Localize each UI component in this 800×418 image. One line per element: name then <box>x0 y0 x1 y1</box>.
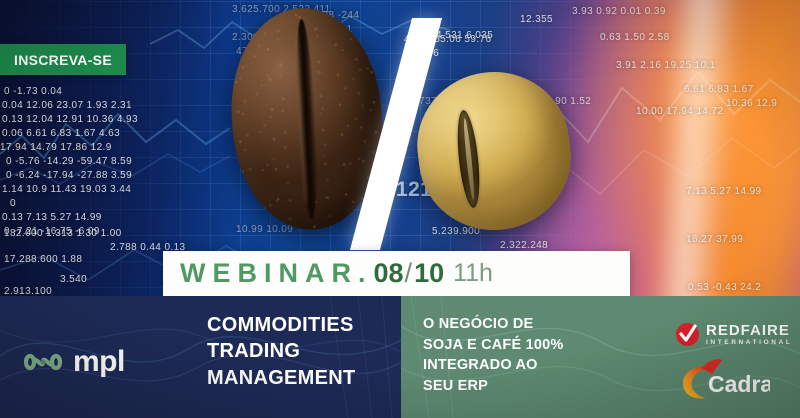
headline-line-2: TRADING <box>207 338 356 364</box>
cadran-name: Cadran <box>708 371 770 397</box>
cadran-swoosh-icon: Cadran <box>678 358 770 402</box>
mpl-logo[interactable]: mpl <box>22 347 125 377</box>
webinar-title-bar: WEBINAR. 08 / 10 11h <box>163 251 630 296</box>
redfaire-text: REDFAIRE INTERNATIONAL <box>706 323 792 347</box>
headline-line-1: COMMODITIES <box>207 312 356 338</box>
mpl-wordmark: mpl <box>73 347 125 377</box>
webinar-date-separator: / <box>405 258 413 289</box>
webinar-month: 10 <box>414 258 444 289</box>
subcopy-line-2: SOJA E CAFÉ 100% <box>423 335 563 356</box>
webinar-day: 08 <box>374 258 404 289</box>
subcopy-line-1: O NEGÓCIO DE <box>423 314 563 335</box>
subcopy-text: O NEGÓCIO DE SOJA E CAFÉ 100% INTEGRADO … <box>423 314 563 397</box>
cadran-logo[interactable]: Cadran <box>678 358 770 402</box>
redfaire-logo[interactable]: REDFAIRE INTERNATIONAL <box>675 322 792 347</box>
inscreva-se-label: INSCREVA-SE <box>14 52 112 68</box>
inscreva-se-button[interactable]: INSCREVA-SE <box>0 44 126 75</box>
subcopy-line-4: SEU ERP <box>423 376 563 397</box>
redfaire-name: REDFAIRE <box>706 323 792 338</box>
webinar-word: WEBINAR. <box>180 258 373 289</box>
redfaire-tagline: INTERNATIONAL <box>706 340 792 347</box>
headline-line-3: MANAGEMENT <box>207 365 356 391</box>
webinar-promo-banner: 0 -1.73 0.04 0.04 12.06 23.07 1.93 2.31 … <box>0 0 800 418</box>
redfaire-check-icon <box>675 322 700 347</box>
webinar-time: 11h <box>453 259 493 288</box>
subcopy-line-3: INTEGRADO AO <box>423 355 563 376</box>
mpl-infinity-icon <box>22 349 64 375</box>
headline-text: COMMODITIES TRADING MANAGEMENT <box>207 312 356 391</box>
